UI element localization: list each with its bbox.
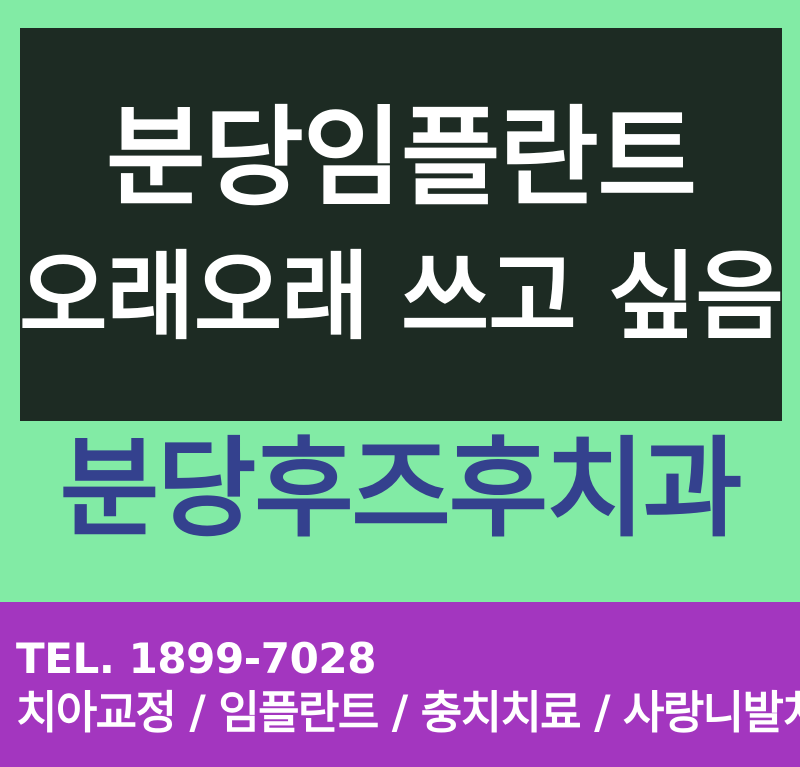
clinic-name: 분당후즈후치과 <box>0 432 800 549</box>
headline-secondary: 오래오래 쓰고 싶음 <box>19 249 783 345</box>
dental-clinic-banner: 분당임플란트 오래오래 쓰고 싶음 분당후즈후치과 TEL. 1899-7028… <box>0 0 800 767</box>
headline-primary: 분당임플란트 <box>106 105 696 213</box>
banner-upper-section: 분당임플란트 오래오래 쓰고 싶음 분당후즈후치과 <box>0 0 800 602</box>
services-list: 치아교정 / 임플란트 / 충치치료 / 사랑니발치 <box>16 689 784 736</box>
telephone-number: TEL. 1899-7028 <box>16 637 784 681</box>
contact-bar: TEL. 1899-7028 치아교정 / 임플란트 / 충치치료 / 사랑니발… <box>0 602 800 767</box>
headline-panel: 분당임플란트 오래오래 쓰고 싶음 <box>20 28 782 421</box>
